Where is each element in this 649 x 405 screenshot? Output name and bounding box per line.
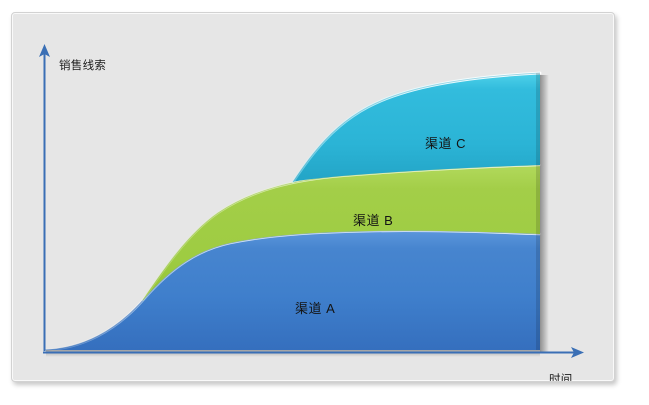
series-area-channel-a [44, 231, 540, 350]
chart-root: 销售线索 时间 渠道 A 渠道 B 渠道 C [0, 0, 649, 405]
y-axis-label: 销售线索 [59, 57, 106, 73]
series-area-channel-c [293, 73, 540, 182]
x-axis-label: 时间 [549, 371, 573, 382]
series-right-edge-face [536, 73, 540, 350]
series-label-channel-a: 渠道 A [295, 298, 335, 317]
series-right-drop-shadow [540, 75, 549, 352]
chart-panel: 销售线索 时间 渠道 A 渠道 B 渠道 C [11, 12, 615, 382]
series-label-channel-b: 渠道 B [353, 210, 393, 229]
series-label-channel-c: 渠道 C [425, 133, 466, 152]
